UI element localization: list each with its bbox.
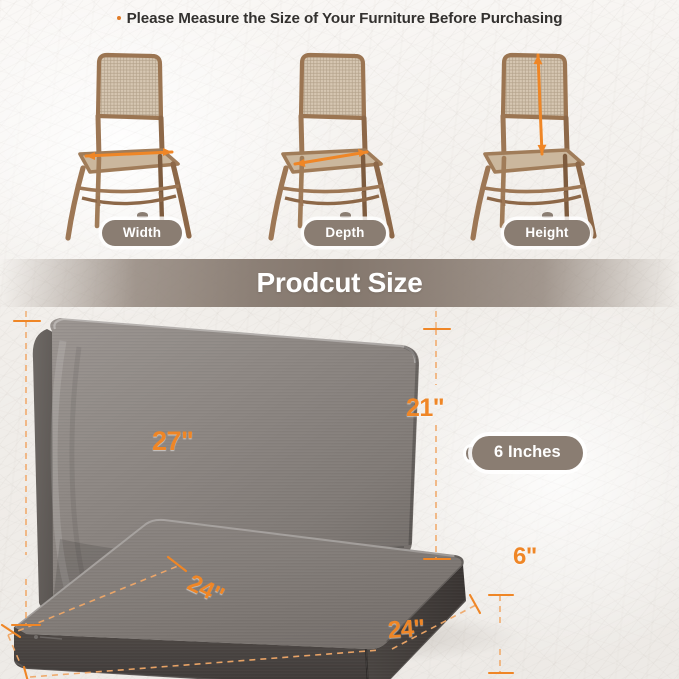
headline: Please Measure the Size of Your Furnitur… [0,10,679,27]
cushion-diagram [0,307,679,679]
headline-text: Please Measure the Size of Your Furnitur… [127,10,563,27]
thickness-badge: 6 Inches [466,436,583,470]
pill-label: Width [102,220,182,246]
thickness-badge-label: 6 Inches [472,436,583,470]
pill-pointer-icon [542,212,553,218]
chair-label-depth: Depth [285,212,405,246]
dimension-label-seat-width: 24" [387,614,425,644]
chair-label-width: Width [82,212,202,246]
chair-comparison-row: Width Depth Height [0,46,679,251]
dimension-label-back-height: 27" [152,426,193,457]
pill-pointer-icon [137,212,148,218]
pill-pointer-icon [340,212,351,218]
pill-label: Height [504,220,589,246]
chair-label-height: Height [487,212,607,246]
orange-dot-icon [117,16,121,20]
infographic-page: Please Measure the Size of Your Furnitur… [0,0,679,679]
pill-label: Depth [304,220,385,246]
banner-title: Prodcut Size [257,267,423,299]
dimension-label-seat-thickness: 6" [513,543,537,571]
dimension-label-back-panel: 21" [406,394,444,423]
product-stage [0,307,679,679]
section-banner: Prodcut Size [0,259,679,307]
